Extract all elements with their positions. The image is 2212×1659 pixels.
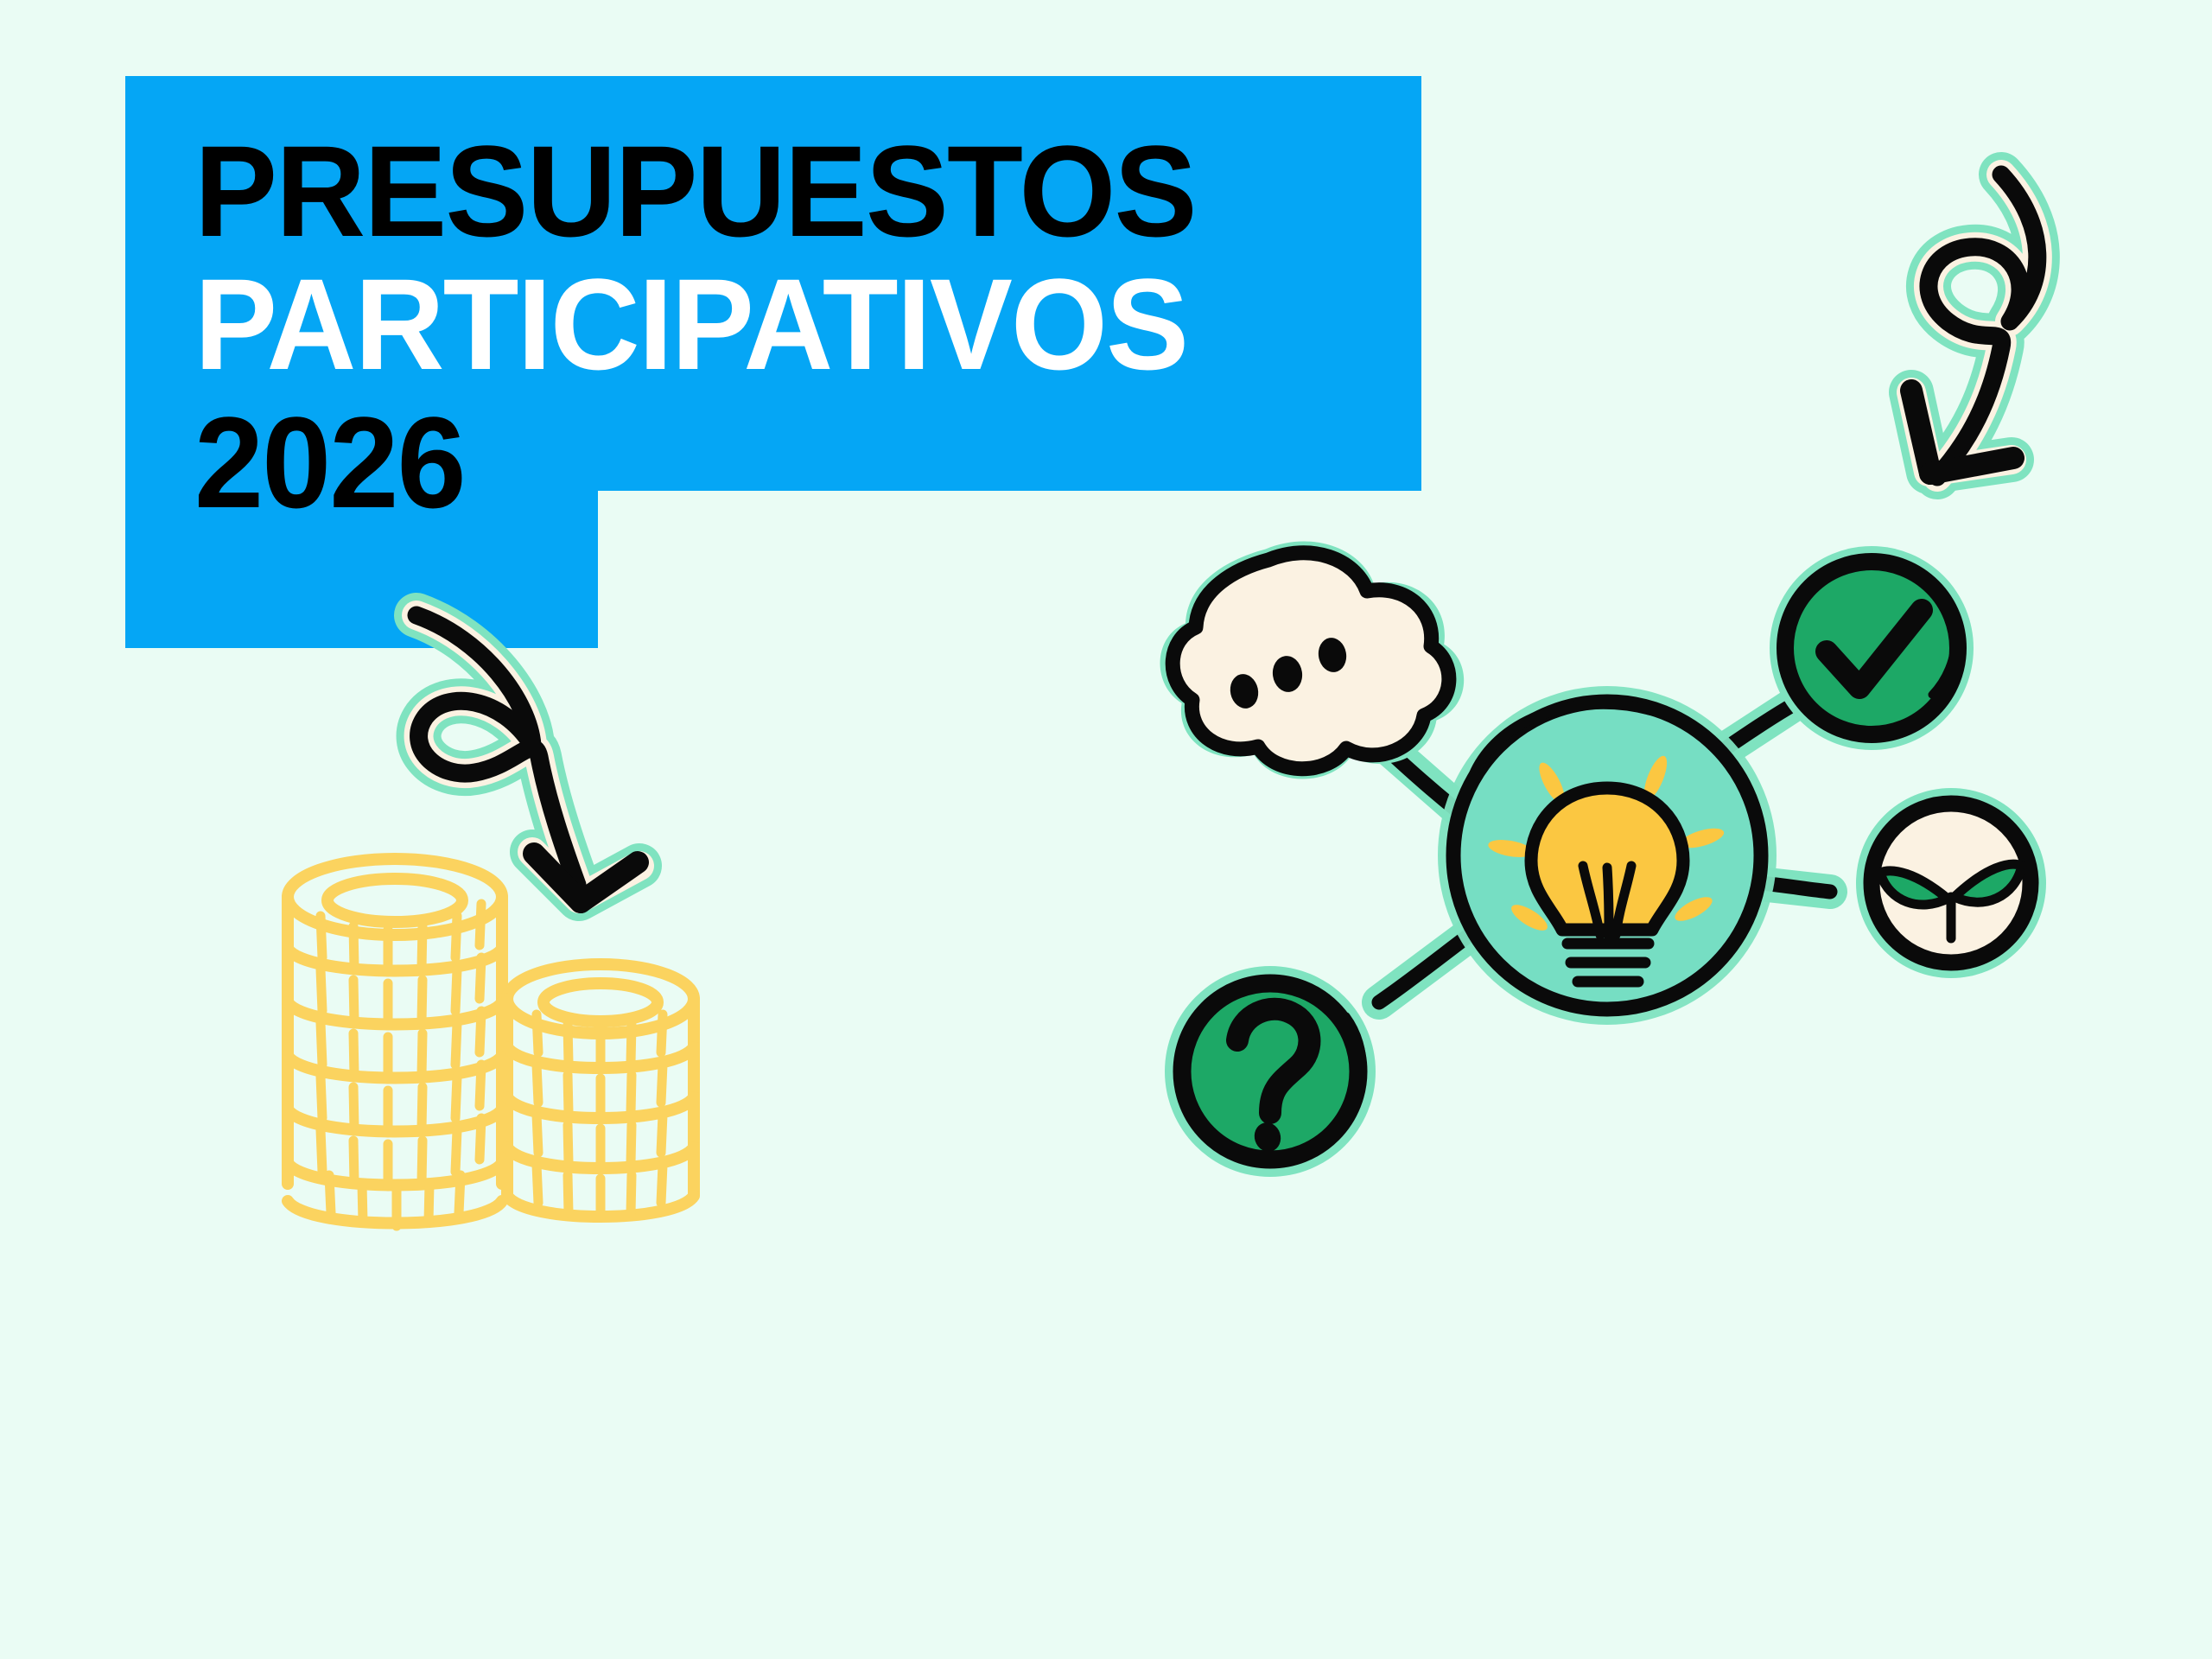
thought-cloud-icon (1173, 553, 1449, 769)
title-line-year: 2026 (194, 397, 465, 527)
node-question-circle (1165, 966, 1376, 1177)
node-check-circle (1770, 546, 1974, 750)
node-thought-cloud (1160, 542, 1465, 779)
idea-network (1132, 518, 2013, 1227)
coin-stacks (246, 829, 739, 1279)
title-line-participativos: PARTICIPATIVOS (194, 259, 1187, 389)
node-center-lightbulb (1438, 686, 1777, 1025)
curly-arrow-right (1832, 156, 2160, 518)
poster-canvas: PRESUPUESTOS PARTICIPATIVOS 2026 (0, 0, 2212, 1659)
title-line-presupuestos: PRESUPUESTOS (194, 126, 1196, 256)
node-sprout-circle (1856, 788, 2046, 978)
